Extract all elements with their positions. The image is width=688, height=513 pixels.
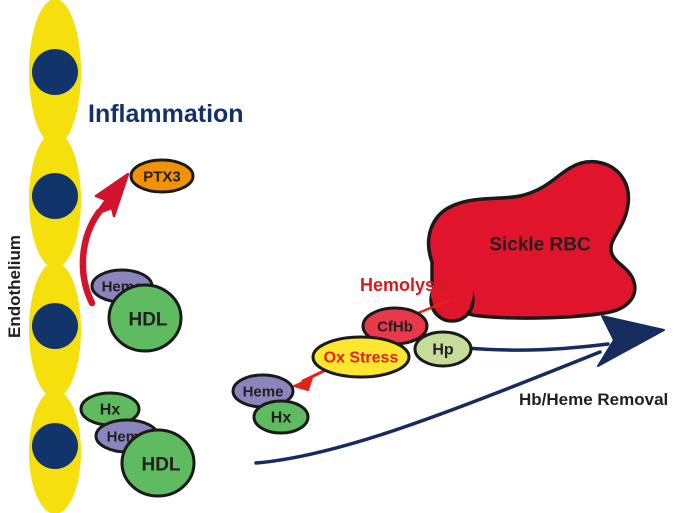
endothelial-cell-4-nucleus [32,423,78,469]
hx-free-ellipse [254,401,308,433]
endothelial-cell-2-nucleus [32,173,78,219]
hdl-lower-ellipse [122,430,194,496]
node-hp[interactable]: Hp [415,332,471,366]
figure-canvas: Sickle RBC PTX3 Heme [0,0,688,513]
navy-arrow-head [598,316,664,366]
endothelial-cell-3-nucleus [32,303,78,349]
ptx3-ellipse [131,160,193,192]
node-hdl-lower[interactable]: HDL [122,430,194,496]
node-ptx3[interactable]: PTX3 [131,160,193,192]
inflammation-title: Inflammation [88,100,244,128]
node-hdl-upper[interactable]: HDL [109,285,181,351]
node-ox-stress[interactable]: Ox Stress [313,337,409,377]
hdl-upper-ellipse [109,285,181,351]
sickle-rbc-shape [429,162,635,321]
endothelium-cell-column [29,0,81,513]
endothelium-label: Endothelium [5,235,24,338]
hp-ellipse [415,332,471,366]
hb-heme-removal-label: Hb/Heme Removal [519,390,668,409]
hemolysis-label: Hemolysis [360,275,450,295]
node-hx-free[interactable]: Hx [254,401,308,433]
red-arrow-head [96,174,128,216]
ox-stress-ellipse [313,337,409,377]
diagram-svg: Sickle RBC PTX3 Heme [0,0,688,513]
navy-curve-upper [466,344,608,350]
endothelial-cell-1-nucleus [32,49,78,95]
